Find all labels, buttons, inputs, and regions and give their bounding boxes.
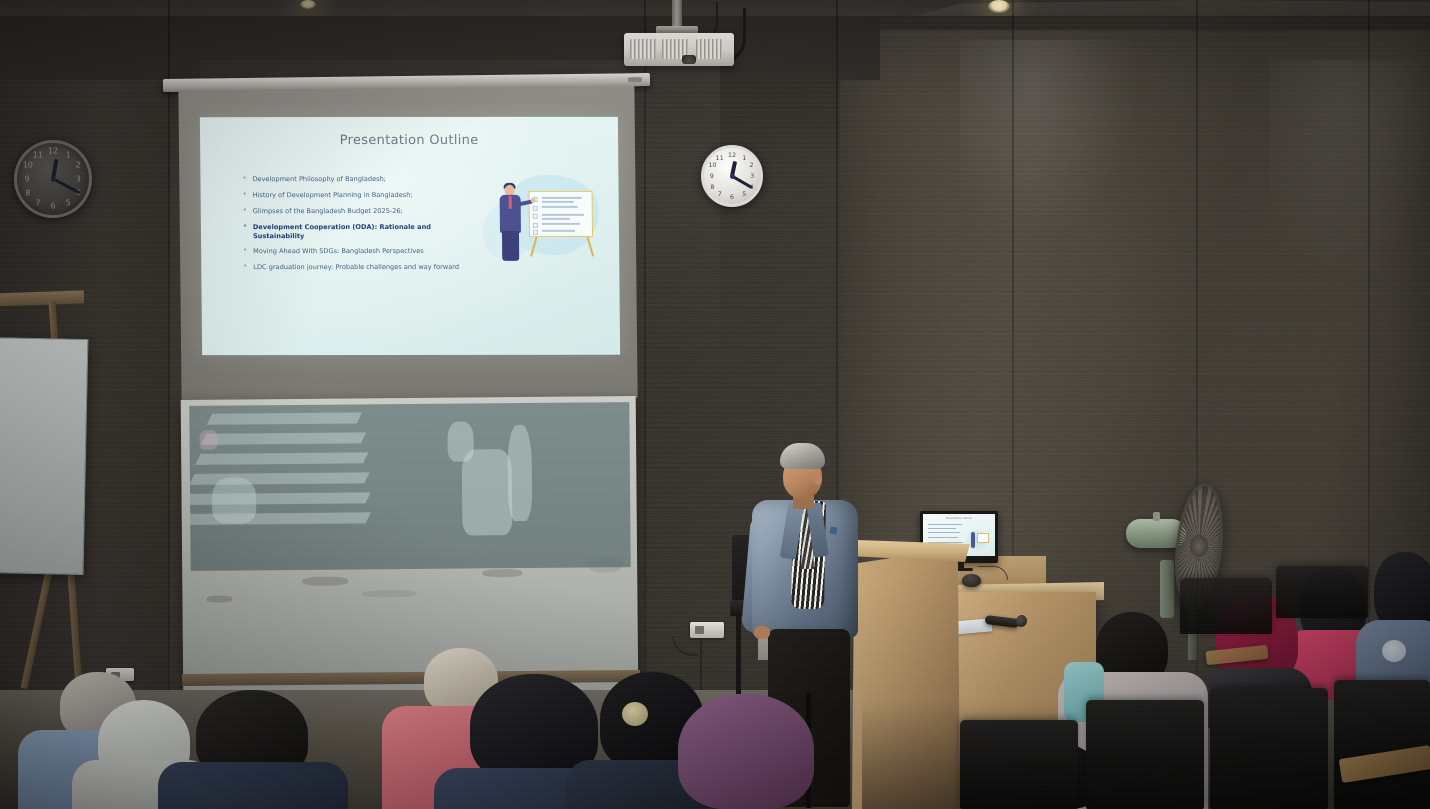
slide-bullet: LDC graduation journey: Probable challen… — [243, 263, 463, 272]
presenter-hair — [780, 443, 825, 469]
ceiling-light-icon — [988, 0, 1010, 13]
audience-hair-tie — [622, 702, 648, 726]
clock-center-pin — [730, 174, 735, 179]
illustration-easel-leg — [586, 235, 594, 257]
wall-clock-right: 12 3 6 9 1 2 4 5 7 8 10 11 — [701, 145, 763, 207]
auditorium-seat[interactable] — [1276, 566, 1368, 618]
clock-center-pin — [51, 177, 56, 182]
power-cable — [700, 638, 716, 698]
slide-bullet-list: Development Philosophy of Bangladesh; Hi… — [242, 175, 463, 279]
auditorium-seat[interactable] — [1086, 700, 1204, 809]
monitor-slide-title: Presentation Outline — [923, 517, 995, 520]
auditorium-seat[interactable] — [1210, 688, 1328, 809]
slide-bullet: Glimpses of the Bangladesh Budget 2025-2… — [243, 207, 463, 216]
computer-mouse[interactable] — [962, 574, 981, 587]
auditorium-seat[interactable] — [1334, 680, 1430, 809]
presenter-hand — [754, 626, 770, 639]
projected-slide: Presentation Outline Development Philoso… — [200, 117, 620, 355]
slide-title: Presentation Outline — [200, 133, 618, 148]
ceiling-light-icon — [300, 0, 316, 9]
illustration-person-hand — [531, 198, 536, 203]
illustration-flipchart — [529, 191, 593, 237]
projector-vent — [696, 39, 722, 59]
illustration-person-tie — [509, 196, 512, 209]
fan-hub — [1190, 535, 1208, 557]
audience-head-scarf — [678, 694, 814, 809]
projected-spillover-image — [189, 402, 630, 571]
slide-illustration — [476, 169, 605, 281]
screen-pull-knob[interactable] — [628, 77, 642, 82]
lecture-hall-scene: 12 3 6 9 1 2 4 5 7 8 10 11 12 3 6 9 1 2 … — [0, 0, 1430, 809]
projector-vent — [630, 39, 656, 59]
audience-hair-clip — [1382, 640, 1406, 662]
clock-face: 12 3 6 9 1 2 4 5 7 8 10 11 — [701, 145, 763, 207]
chair-leg — [736, 612, 741, 694]
projector-icon — [624, 33, 734, 66]
audience-body — [158, 762, 348, 809]
slide-bullet: Moving Ahead With SDGs: Bangladesh Persp… — [243, 247, 463, 256]
fan-motor-cap — [1153, 512, 1160, 521]
auditorium-seat[interactable] — [960, 720, 1078, 809]
upper-wall-band — [0, 16, 880, 80]
slide-bullet: History of Development Planning in Bangl… — [243, 191, 463, 200]
flipchart-board — [0, 337, 88, 575]
illustration-person-legs — [502, 231, 519, 261]
wall-clock-left: 12 3 6 9 1 2 4 5 7 8 10 11 — [14, 140, 92, 218]
slide-bullet: Development Philosophy of Bangladesh; — [242, 175, 462, 184]
fan-arm — [1160, 560, 1174, 618]
clock-face: 12 3 6 9 1 2 4 5 7 8 10 11 — [14, 140, 92, 218]
projector-lens-icon — [682, 55, 696, 64]
auditorium-seat[interactable] — [1180, 578, 1272, 634]
slide-bullet-highlighted: Development Cooperation (ODA): Rationale… — [243, 223, 463, 241]
presenter-ear — [814, 474, 822, 485]
